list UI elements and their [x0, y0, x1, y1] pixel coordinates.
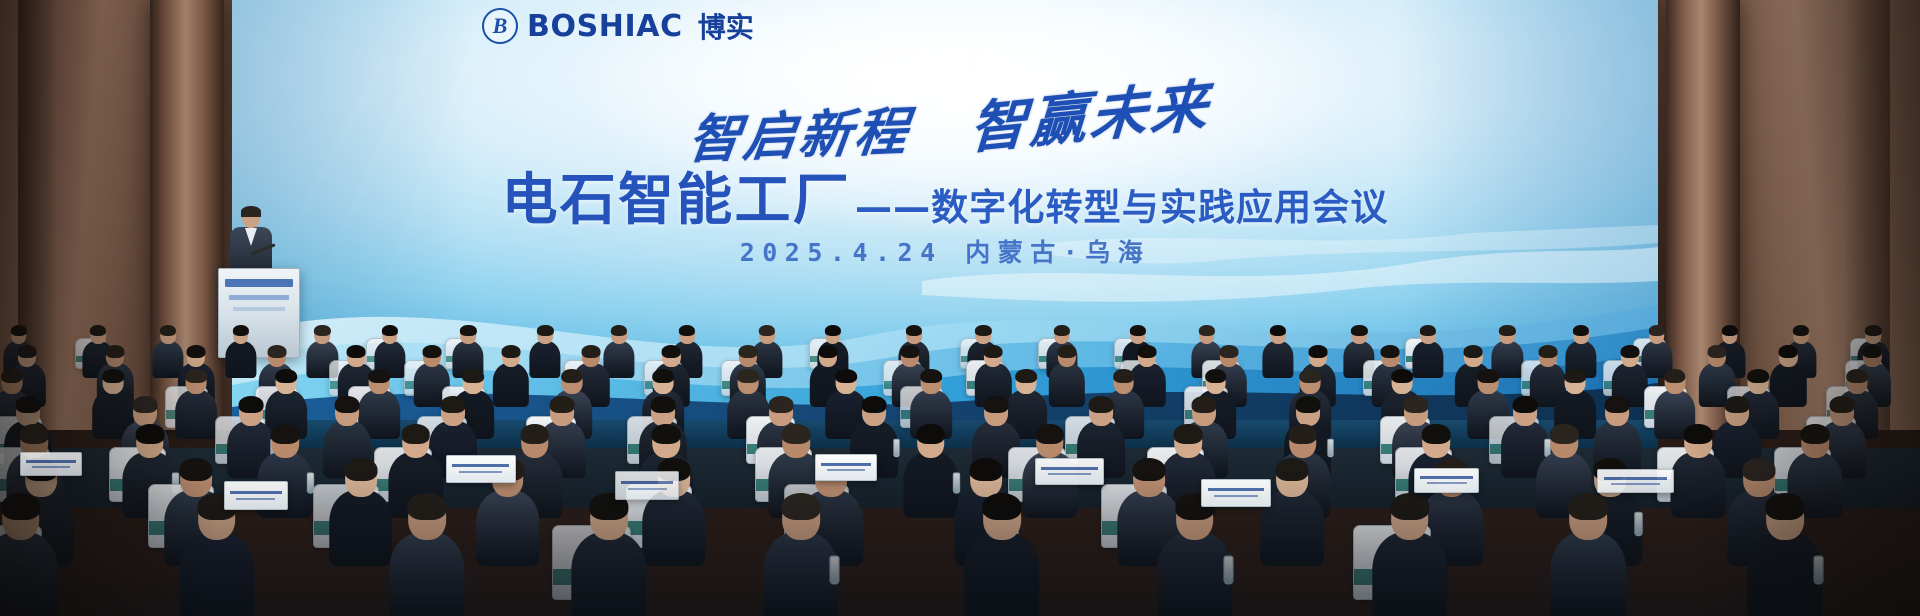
audience-hair — [1863, 345, 1882, 358]
audience-hair — [1308, 345, 1327, 358]
conference-date-location: 2025.4.24 内蒙古·乌海 — [232, 233, 1658, 269]
audience-hair — [1132, 458, 1165, 481]
audience-body — [1671, 452, 1726, 518]
audience-hair — [901, 345, 920, 358]
audience-hair — [1016, 369, 1038, 384]
audience-hair — [1684, 424, 1713, 444]
audience-hair — [1276, 458, 1309, 481]
audience-body — [571, 532, 646, 616]
audience-body — [225, 341, 256, 378]
audience-hair — [1550, 424, 1579, 444]
audience-hair — [103, 369, 125, 384]
audience-hair — [1605, 396, 1630, 413]
name-card-text-line — [26, 460, 76, 463]
audience-hair — [1569, 493, 1608, 520]
audience-hair — [1390, 493, 1429, 520]
audience-hair — [1270, 325, 1286, 336]
audience-hair — [835, 369, 857, 384]
audience-hair — [738, 345, 757, 358]
audience-hair — [10, 325, 26, 336]
audience-hair — [983, 396, 1008, 413]
calligraphy-spacer — [924, 147, 960, 148]
audience-member — [1260, 460, 1323, 572]
audience-hair — [520, 424, 549, 444]
audience-body — [642, 490, 705, 566]
name-card-text-line — [230, 491, 282, 494]
conference-sub-title: ——数字化转型与实践应用会议 — [855, 177, 1389, 236]
audience-body — [389, 532, 464, 616]
audience-member — [571, 496, 646, 616]
audience-member — [964, 496, 1039, 616]
name-card-text-line — [1208, 488, 1265, 491]
audience-member — [329, 460, 392, 572]
name-card-text-line — [1214, 495, 1257, 497]
audience-member — [1372, 496, 1447, 616]
audience-hair — [1743, 458, 1776, 481]
name-card-text-line — [236, 498, 275, 500]
audience-hair — [737, 369, 759, 384]
audience-hair — [1351, 325, 1367, 336]
name-card-text-line — [628, 488, 668, 490]
audience-body — [175, 390, 217, 440]
audience-hair — [381, 325, 397, 336]
audience-body — [1747, 532, 1822, 616]
audience-hair — [679, 325, 695, 336]
audience-hair — [1300, 369, 1322, 384]
audience-member — [225, 326, 256, 381]
audience-hair — [187, 345, 206, 358]
audience-hair — [132, 396, 157, 413]
audience-hair — [1464, 345, 1483, 358]
audience-hair — [1477, 369, 1499, 384]
audience-hair — [982, 493, 1021, 520]
water-bottle — [1223, 555, 1233, 584]
audience-hair — [20, 424, 49, 444]
audience-hair — [652, 369, 674, 384]
audience-body — [1157, 532, 1232, 616]
name-card-text-line — [1604, 477, 1668, 480]
audience-hair — [920, 369, 942, 384]
audience-hair — [1295, 396, 1320, 413]
audience-body — [903, 452, 958, 518]
name-card-text-line — [1041, 467, 1097, 470]
audience-body — [763, 532, 838, 616]
audience-hair — [916, 424, 945, 444]
audience-hair — [1564, 369, 1586, 384]
audience-hair — [1138, 345, 1157, 358]
audience-hair — [1054, 325, 1070, 336]
audience-hair — [825, 325, 841, 336]
audience-hair — [185, 369, 207, 384]
audience-hair — [463, 369, 485, 384]
audience-hair — [769, 396, 794, 413]
boshiac-logo: BOSHIAC 博实 — [482, 6, 754, 46]
audience-hair — [782, 424, 811, 444]
audience-hair — [1035, 424, 1064, 444]
audience-member — [1157, 496, 1232, 616]
audience-hair — [1725, 396, 1750, 413]
audience-hair — [1420, 325, 1436, 336]
audience-member — [0, 496, 58, 616]
audience-hair — [759, 325, 775, 336]
audience-hair — [969, 458, 1002, 481]
water-bottle — [1814, 555, 1824, 584]
speaker-hair — [241, 206, 261, 217]
audience-hair — [1381, 345, 1400, 358]
audience-member — [1671, 426, 1726, 524]
audience-hair — [537, 325, 553, 336]
audience-hair — [1846, 369, 1868, 384]
boshiac-chinese-name: 博实 — [698, 6, 754, 46]
name-card-text-line — [821, 463, 872, 466]
audience-hair — [1829, 396, 1854, 413]
audience-hair — [1793, 325, 1809, 336]
name-card-text-line — [827, 469, 866, 471]
table-name-card — [1201, 479, 1271, 507]
audience-hair — [160, 325, 176, 336]
audience-hair — [819, 345, 838, 358]
water-bottle — [1635, 511, 1644, 535]
audience-hair — [1113, 369, 1135, 384]
audience-hair — [180, 458, 213, 481]
water-bottle — [830, 555, 840, 584]
audience-hair — [1129, 325, 1145, 336]
audience-body — [0, 532, 58, 616]
table-name-card — [1035, 458, 1104, 485]
conference-photo-scene: BOSHIAC 博实 智启新程 智赢未来 电石智能工厂 ——数字化转型与实践应用… — [0, 0, 1920, 616]
audience-hair — [549, 396, 574, 413]
name-card-text-line — [1427, 482, 1467, 484]
audience-body — [493, 363, 529, 406]
audience-hair — [314, 325, 330, 336]
audience-hair — [422, 345, 441, 358]
audience-hair — [502, 345, 521, 358]
audience-hair — [1573, 325, 1589, 336]
audience-hair — [1192, 396, 1217, 413]
audience-hair — [906, 325, 922, 336]
speaker-person — [228, 208, 274, 272]
conference-main-title: 电石智能工厂 — [502, 155, 851, 236]
audience-hair — [1621, 345, 1640, 358]
name-card-text-line — [621, 481, 673, 484]
audience-body — [329, 490, 392, 566]
audience-hair — [233, 325, 249, 336]
audience-body — [179, 532, 254, 616]
water-bottle — [894, 439, 900, 457]
audience-hair — [16, 396, 41, 413]
table-name-card — [815, 454, 877, 481]
audience-hair — [1779, 345, 1798, 358]
name-card-text-line — [1420, 476, 1473, 479]
audience-hair — [271, 424, 300, 444]
audience-hair — [1648, 325, 1664, 336]
audience-hair — [1499, 325, 1515, 336]
table-name-card — [1414, 468, 1479, 493]
audience-hair — [344, 458, 377, 481]
audience-hair — [582, 345, 601, 358]
audience-hair — [1391, 369, 1413, 384]
audience-hair — [18, 345, 37, 358]
audience-member — [175, 370, 217, 444]
audience-hair — [136, 424, 165, 444]
audience-hair — [561, 369, 583, 384]
audience-hair — [1722, 325, 1738, 336]
audience-hair — [662, 345, 681, 358]
audience-hair — [781, 493, 820, 520]
audience-hair — [239, 396, 264, 413]
audience-member — [1551, 496, 1626, 616]
audience-hair — [984, 345, 1003, 358]
audience-hair — [335, 396, 360, 413]
audience-hair — [651, 396, 676, 413]
audience-member — [179, 496, 254, 616]
audience-hair — [1865, 325, 1881, 336]
audience-body — [1551, 532, 1626, 616]
audience-hair — [1801, 424, 1830, 444]
audience-hair — [441, 396, 466, 413]
audience-hair — [1539, 345, 1558, 358]
audience-hair — [1664, 369, 1686, 384]
name-card-text-line — [1611, 483, 1659, 485]
table-name-card — [224, 481, 288, 510]
audience-member — [389, 496, 464, 616]
audience-hair — [1089, 396, 1114, 413]
audience-hair — [1, 369, 23, 384]
audience-member — [1747, 496, 1822, 616]
table-name-card — [20, 452, 82, 476]
audience-member — [493, 346, 529, 410]
name-card-text-line — [459, 471, 502, 473]
name-card-text-line — [452, 464, 509, 467]
audience-hair — [1404, 396, 1429, 413]
audience-body — [476, 490, 539, 566]
audience-hair — [1174, 424, 1203, 444]
name-card-text-line — [32, 466, 70, 468]
audience-hair — [1765, 493, 1804, 520]
audience-hair — [1422, 424, 1451, 444]
audience-hair — [1288, 424, 1317, 444]
audience-body — [964, 532, 1039, 616]
audience-hair — [347, 345, 366, 358]
audience-hair — [275, 369, 297, 384]
audience-body — [1372, 532, 1447, 616]
audience-area — [0, 300, 1920, 616]
audience-hair — [106, 345, 125, 358]
audience-hair — [267, 345, 286, 358]
audience-hair — [1199, 325, 1215, 336]
audience-hair — [460, 325, 476, 336]
audience-hair — [862, 396, 887, 413]
audience-hair — [652, 424, 681, 444]
audience-hair — [1205, 369, 1227, 384]
audience-hair — [401, 424, 430, 444]
audience-hair — [1057, 345, 1076, 358]
boshiac-logo-mark-icon — [482, 8, 518, 44]
table-name-card — [615, 471, 679, 500]
audience-member — [903, 426, 958, 524]
audience-hair — [1513, 396, 1538, 413]
conference-title-row: 电石智能工厂 ——数字化转型与实践应用会议 — [232, 155, 1658, 236]
audience-member — [763, 496, 838, 616]
table-name-card — [446, 455, 516, 484]
audience-hair — [407, 493, 446, 520]
audience-hair — [1747, 369, 1769, 384]
audience-hair — [369, 369, 391, 384]
audience-hair — [975, 325, 991, 336]
boshiac-wordmark: BOSHIAC — [527, 9, 683, 44]
audience-hair — [1220, 345, 1239, 358]
podium-sign-band — [225, 279, 293, 287]
audience-hair — [1, 493, 40, 520]
table-name-card — [1597, 469, 1675, 494]
audience-hair — [1708, 345, 1727, 358]
audience-hair — [90, 325, 106, 336]
audience-hair — [611, 325, 627, 336]
name-card-text-line — [1048, 473, 1091, 475]
